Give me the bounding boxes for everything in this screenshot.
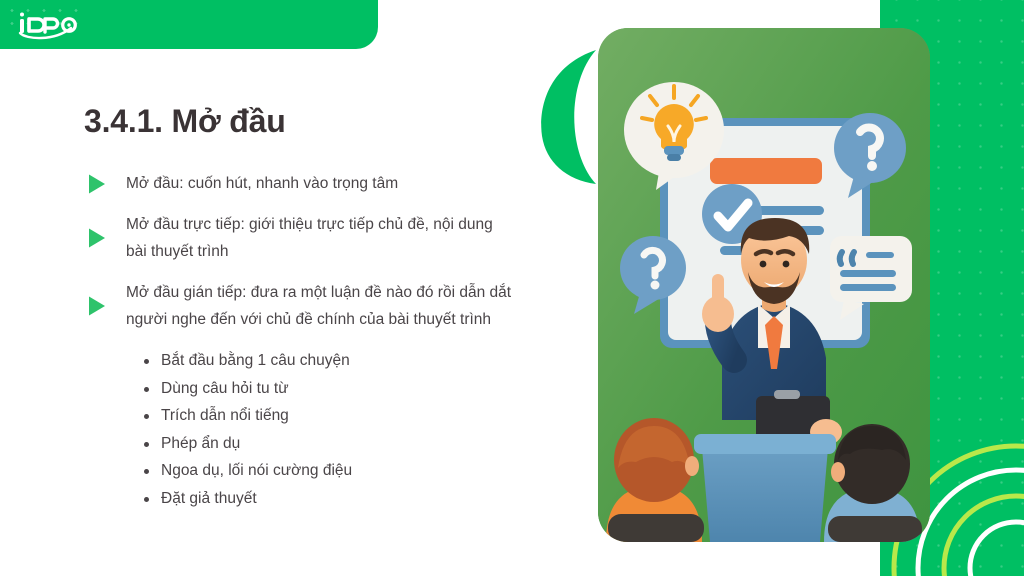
list-item: Phép ẩn dụ — [144, 430, 514, 458]
sub-bullet-list: Bắt đầu bằng 1 câu chuyện Dùng câu hỏi t… — [144, 347, 514, 512]
presenter-at-podium-illustration — [538, 28, 930, 542]
ibpo-logo — [16, 9, 86, 41]
slide: 3.4.1. Mở đầu Mở đầu: cuốn hút, nhanh và… — [0, 0, 1024, 576]
bullet-label: Mở đầu gián tiếp: đưa ra một luận đề nào… — [126, 279, 514, 333]
page-title: 3.4.1. Mở đầu — [84, 103, 286, 140]
bullet-label: Mở đầu trực tiếp: giới thiệu trực tiếp c… — [126, 211, 514, 265]
bullet-item: Mở đầu: cuốn hút, nhanh vào trọng tâm — [84, 170, 514, 197]
list-item: Đặt giả thuyết — [144, 485, 514, 513]
play-arrow-icon — [84, 171, 110, 197]
bullet-item: Mở đầu gián tiếp: đưa ra một luận đề nào… — [84, 279, 514, 333]
header-bar — [0, 0, 378, 49]
bullet-label: Mở đầu: cuốn hút, nhanh vào trọng tâm — [126, 170, 398, 197]
list-item: Dùng câu hỏi tu từ — [144, 375, 514, 403]
list-item: Trích dẫn nổi tiếng — [144, 402, 514, 430]
list-item: Ngoa dụ, lối nói cường điệu — [144, 457, 514, 485]
play-arrow-icon — [84, 293, 110, 319]
bullet-item: Mở đầu trực tiếp: giới thiệu trực tiếp c… — [84, 211, 514, 265]
play-arrow-icon — [84, 225, 110, 251]
illustration-card — [598, 28, 930, 542]
list-item: Bắt đầu bằng 1 câu chuyện — [144, 347, 514, 375]
content-body: Mở đầu: cuốn hút, nhanh vào trọng tâm Mở… — [84, 170, 514, 512]
